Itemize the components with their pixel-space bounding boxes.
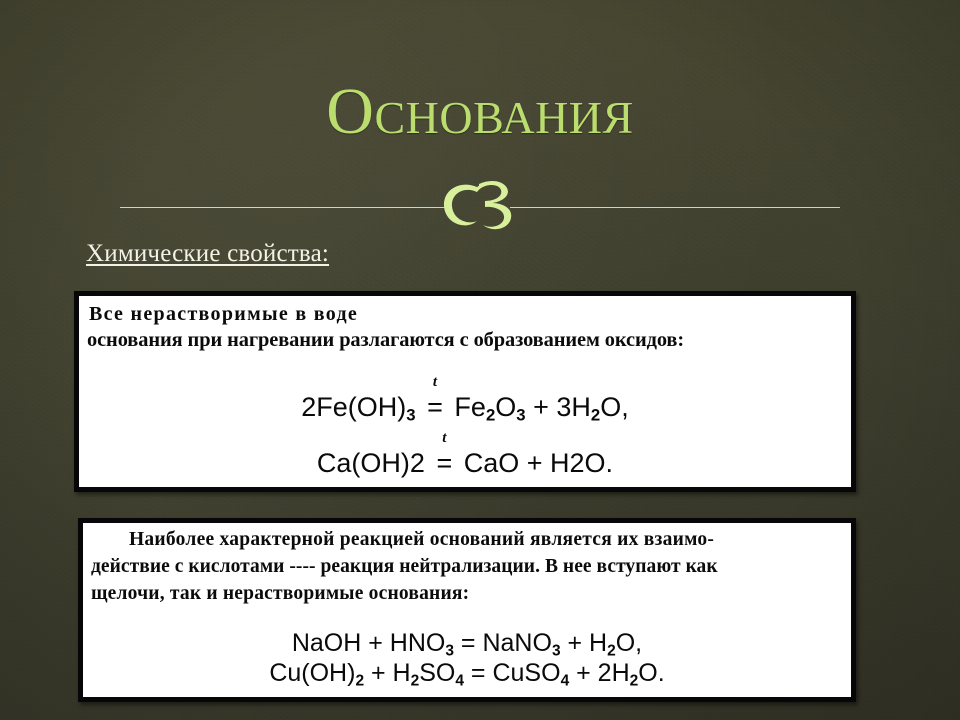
divider-line-left [120,207,450,208]
heat-marker-t: t [433,375,437,390]
page-title: Основания [0,78,960,147]
content-box-decomposition: Все нерастворимые в воде основания при н… [74,291,856,492]
content-box-neutralization: Наиболее характерной реакцией оснований … [78,518,856,702]
section-heading: Химические свойства: [86,240,329,268]
equation-right-term: Fe2O3 + 3H2O, [454,392,628,422]
slide-canvas: Основания Химические свойства: Все нерас… [0,0,960,720]
title-block: Основания [0,78,960,147]
decomposition-text-line-2: основания при нагревании разлагаются с о… [87,329,684,352]
equation-fe-oh-3-decomposition: 2Fe(OH)3 t= Fe2O3 + 3H2O, [79,392,851,426]
heat-marker-t: t [442,431,446,446]
neutralization-text-line-1: Наиболее характерной реакцией оснований … [95,529,843,551]
equation-cu-oh-2-h2so4: Cu(OH)2 + H2SO4 = CuSO4 + 2H2O. [83,659,851,690]
equals-with-heat-marker: t= [432,448,456,479]
neutralization-text-line-3: щелочи, так и нерастворимые основания: [91,583,469,605]
divider-line-right [510,207,840,208]
decomposition-text-line-1: Все нерастворимые в воде [89,303,358,326]
equation-naoh-hno3: NaOH + HNO3 = NaNO3 + H2O, [83,629,851,660]
equation-right-term: CaO + H2O. [464,448,613,478]
equation-ca-oh-2-decomposition: Ca(OH)2 t= CaO + H2O. [79,448,851,479]
neutralization-text-line-2: действие с кислотами ---- реакция нейтра… [91,556,718,578]
equals-with-heat-marker: t= [423,392,447,423]
equation-left-term: Ca(OH)2 [317,448,425,478]
equation-left-term: 2Fe(OH)3 [301,392,415,422]
flourish-ornament-icon [435,175,525,237]
